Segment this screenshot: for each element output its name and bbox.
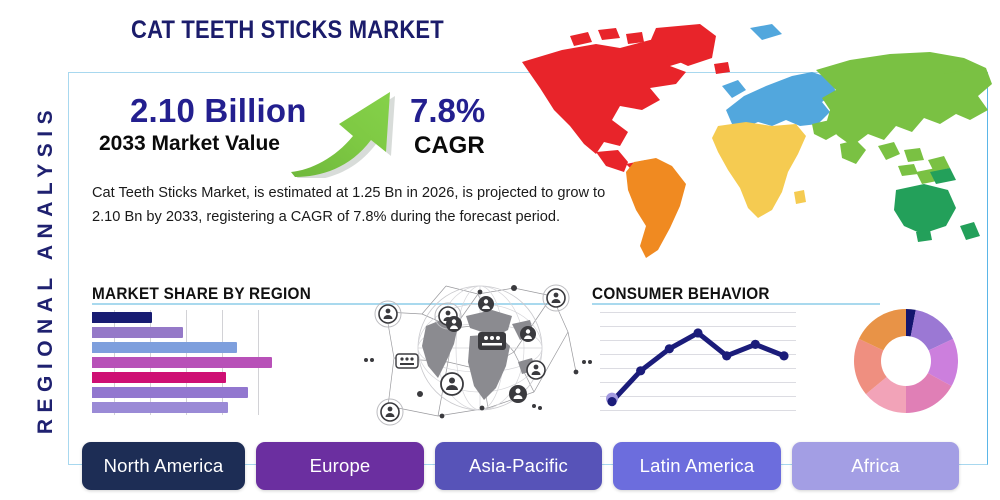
bar-row-3 — [92, 342, 237, 353]
bar-row-2 — [92, 327, 183, 338]
section-header-market-share: MARKET SHARE BY REGION — [92, 284, 311, 304]
global-network-globe-icon — [362, 266, 594, 428]
page-side-label: REGIONAL ANALYSIS — [26, 69, 66, 469]
region-button-europe[interactable]: Europe — [256, 442, 424, 490]
region-button-asia-pacific[interactable]: Asia-Pacific — [435, 442, 602, 490]
region-button-row: North America Europe Asia-Pacific Latin … — [82, 442, 959, 490]
donut-chart-svg — [854, 309, 958, 413]
region-button-label: Europe — [310, 455, 371, 477]
section-header-consumer-behavior: CONSUMER BEHAVIOR — [592, 284, 770, 304]
region-button-label: Asia-Pacific — [469, 455, 568, 477]
region-button-africa[interactable]: Africa — [792, 442, 959, 490]
region-button-label: Latin America — [640, 455, 755, 477]
regional-share-donut-chart — [854, 309, 958, 413]
bar-row-1 — [92, 312, 152, 323]
bar-row-4 — [92, 357, 272, 368]
market-value-label: 2033 Market Value — [99, 132, 280, 156]
region-button-label: Africa — [851, 455, 900, 477]
cagr-label: CAGR — [414, 132, 485, 160]
section-rule-consumer-behavior — [592, 303, 880, 305]
bar-row-6 — [92, 387, 248, 398]
cagr-figure: 7.8% — [410, 92, 485, 130]
kpi-group: 2.10 Billion 2033 Market Value 7.8% CAGR — [92, 92, 512, 172]
line-chart-series — [600, 306, 796, 418]
bar-row-7 — [92, 402, 228, 413]
world-map-icon — [500, 14, 1000, 266]
market-share-bar-chart — [92, 310, 278, 415]
page-title: CAT TEETH STICKS MARKET — [131, 16, 444, 45]
region-button-label: North America — [104, 455, 224, 477]
bar-row-5 — [92, 372, 226, 383]
market-value-figure: 2.10 Billion — [130, 92, 307, 130]
region-button-latin-america[interactable]: Latin America — [613, 442, 781, 490]
region-button-north-america[interactable]: North America — [82, 442, 245, 490]
growth-arrow-up-icon — [287, 86, 407, 178]
consumer-behavior-line-chart — [600, 306, 796, 418]
